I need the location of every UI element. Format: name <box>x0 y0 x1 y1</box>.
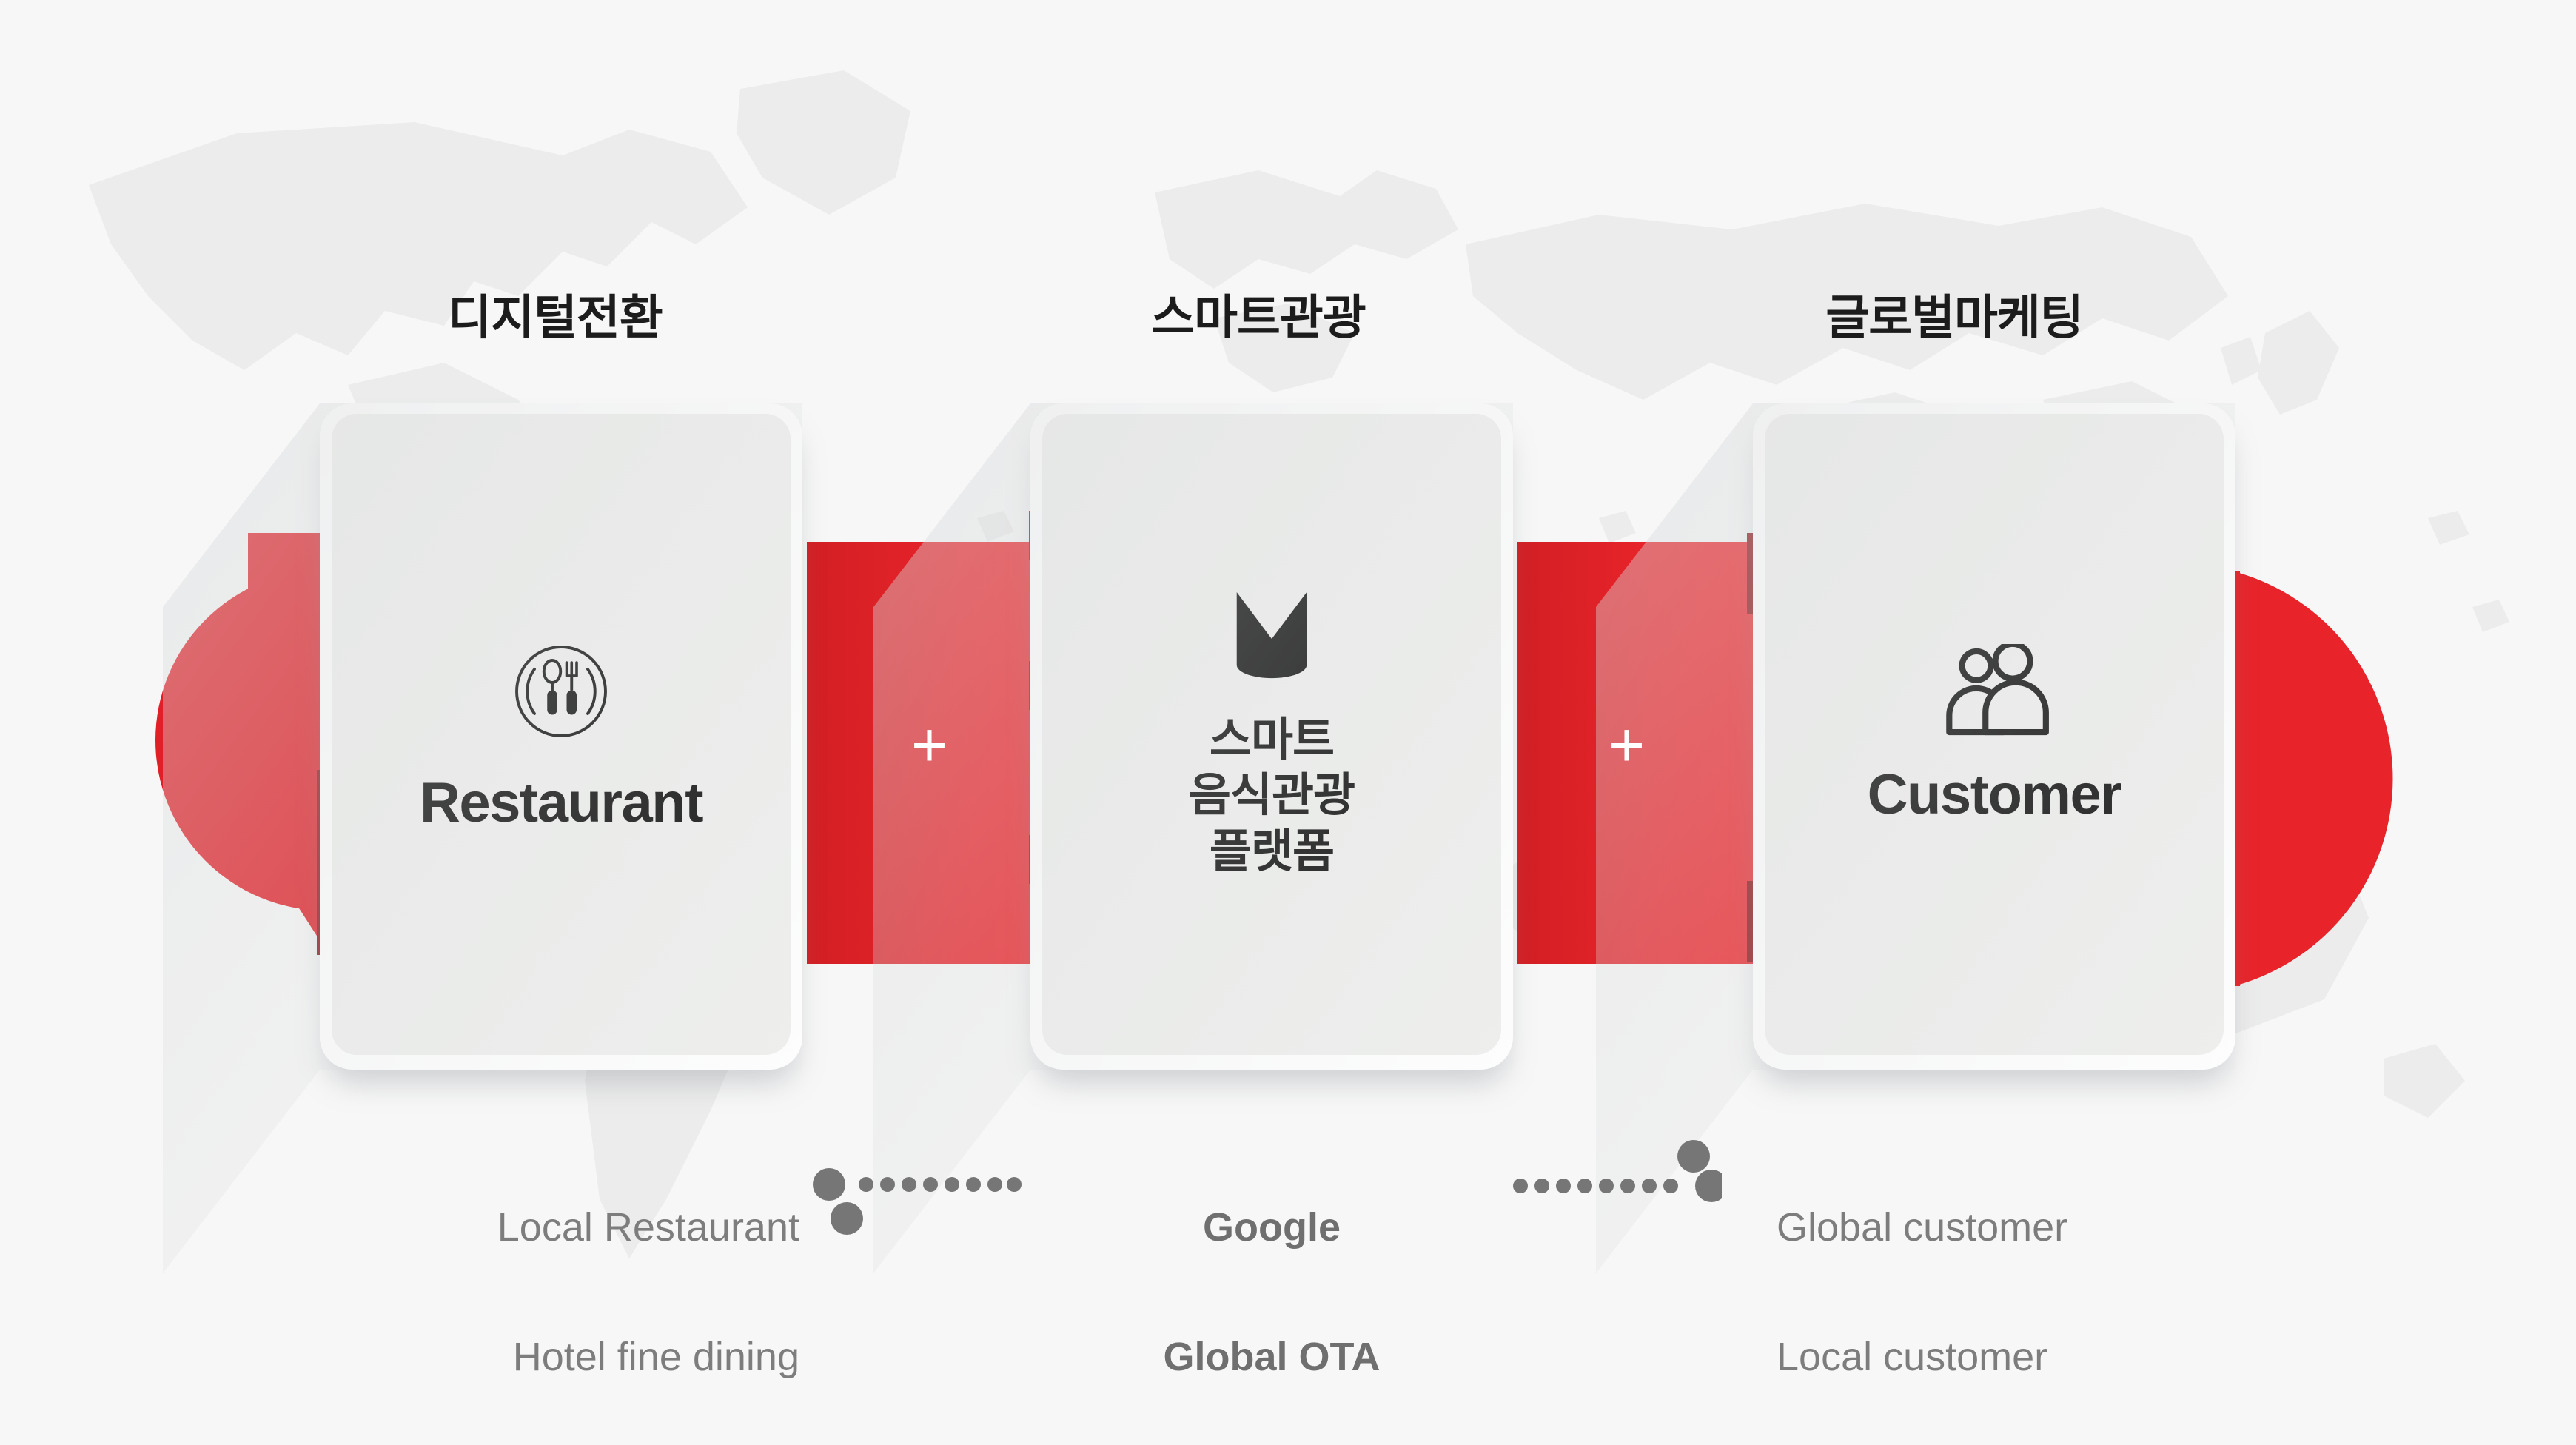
caption-line: Google <box>1030 1196 1513 1260</box>
column-header-3: 글로벌마케팅 <box>1732 280 2176 348</box>
caption-line: Global OTA <box>1030 1325 1513 1389</box>
caption-line: Global customer <box>1777 1196 2235 1260</box>
card-restaurant[interactable]: Restaurant <box>320 403 802 1070</box>
caption-line: Local Restaurant <box>341 1196 799 1260</box>
card-label-customer: Customer <box>1868 765 2121 825</box>
plate-spoon-fork-icon <box>506 636 617 747</box>
card-smart-platform[interactable]: 스마트 음식관광 플랫폼 <box>1030 403 1513 1070</box>
caption-restaurant: Local Restaurant Hotel fine dining Franc… <box>341 1131 799 1445</box>
column-header-2: 스마트관광 <box>1051 280 1466 348</box>
card-customer[interactable]: Customer <box>1753 403 2235 1070</box>
infographic-canvas: 디지털전환 스마트관광 글로벌마케팅 <box>0 0 2576 1445</box>
card-label-restaurant: Restaurant <box>420 774 702 834</box>
plus-connector-1: + <box>911 714 947 776</box>
plus-connector-2: + <box>1609 714 1645 776</box>
dotted-link-left <box>813 1155 1027 1236</box>
caption-smart-platform: Google Global OTA B2B/B2G <box>1030 1131 1513 1445</box>
card-label-line-2: 음식관광 <box>1189 768 1355 824</box>
card-label-line-1: 스마트 <box>1189 712 1355 768</box>
crown-platform-icon <box>1227 589 1316 685</box>
card-label-line-3: 플랫폼 <box>1189 824 1355 880</box>
dotted-link-right <box>1507 1140 1722 1221</box>
caption-customer: Global customer Local customer B2B custo… <box>1777 1131 2235 1445</box>
two-people-icon <box>1937 644 2052 739</box>
card-label-smart-platform: 스마트 음식관광 플랫폼 <box>1189 712 1355 880</box>
caption-line: Hotel fine dining <box>341 1325 799 1389</box>
caption-line: Local customer <box>1777 1325 2235 1389</box>
column-header-1: 디지털전환 <box>348 280 762 348</box>
